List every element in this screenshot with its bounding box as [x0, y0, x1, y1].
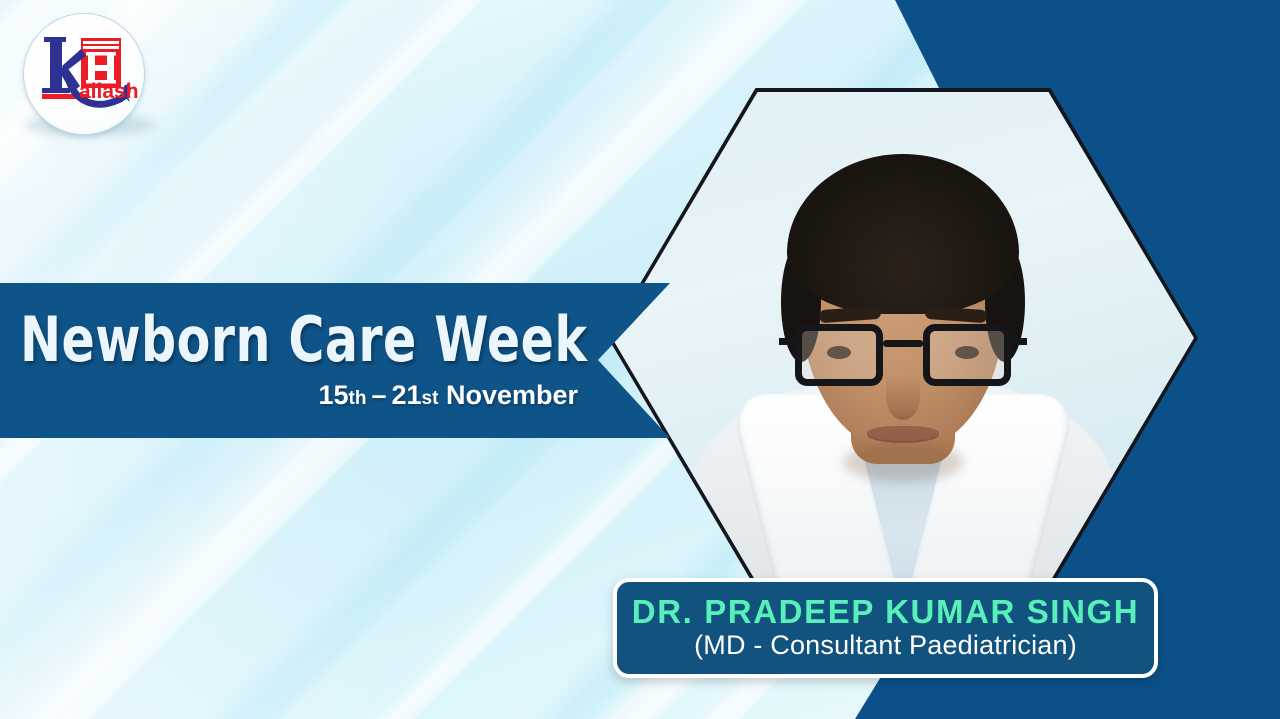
doctor-qualification: (MD - Consultant Paediatrician) [694, 631, 1077, 661]
glasses-lens-right [923, 324, 1011, 386]
glasses-bridge [883, 340, 923, 347]
kailash-hospital-logo: ailash [23, 13, 145, 135]
glasses-temple-right [1011, 338, 1027, 345]
doctor-photo [612, 92, 1194, 584]
logo-mark-icon: ailash [24, 14, 144, 134]
event-title: Newborn Care Week [20, 310, 539, 371]
hair [787, 154, 1019, 314]
doctor-portrait-hexagon [608, 88, 1198, 588]
nose [886, 374, 920, 420]
event-date-end: 21 [391, 380, 421, 410]
promo-banner-canvas: Newborn Care Week 15th–21st November DR.… [0, 0, 1280, 719]
event-dates: 15th–21st November [20, 380, 610, 411]
event-date-dash: – [366, 380, 391, 410]
glasses-temple-left [779, 338, 795, 345]
chin-shadow [843, 442, 963, 482]
event-date-month: November [446, 380, 578, 410]
doctor-nameplate: DR. PRADEEP KUMAR SINGH (MD - Consultant… [613, 578, 1158, 678]
headline-banner: Newborn Care Week 15th–21st November [10, 283, 610, 438]
logo-wordmark: ailash [79, 80, 139, 103]
doctor-name: DR. PRADEEP KUMAR SINGH [632, 595, 1139, 630]
event-date-start-ordinal: th [349, 388, 367, 409]
glasses-lens-left [795, 324, 883, 386]
event-date-start: 15 [318, 380, 348, 410]
hexagon-photo-area [612, 92, 1194, 584]
mouth [867, 426, 939, 443]
event-date-end-ordinal: st [422, 388, 439, 409]
